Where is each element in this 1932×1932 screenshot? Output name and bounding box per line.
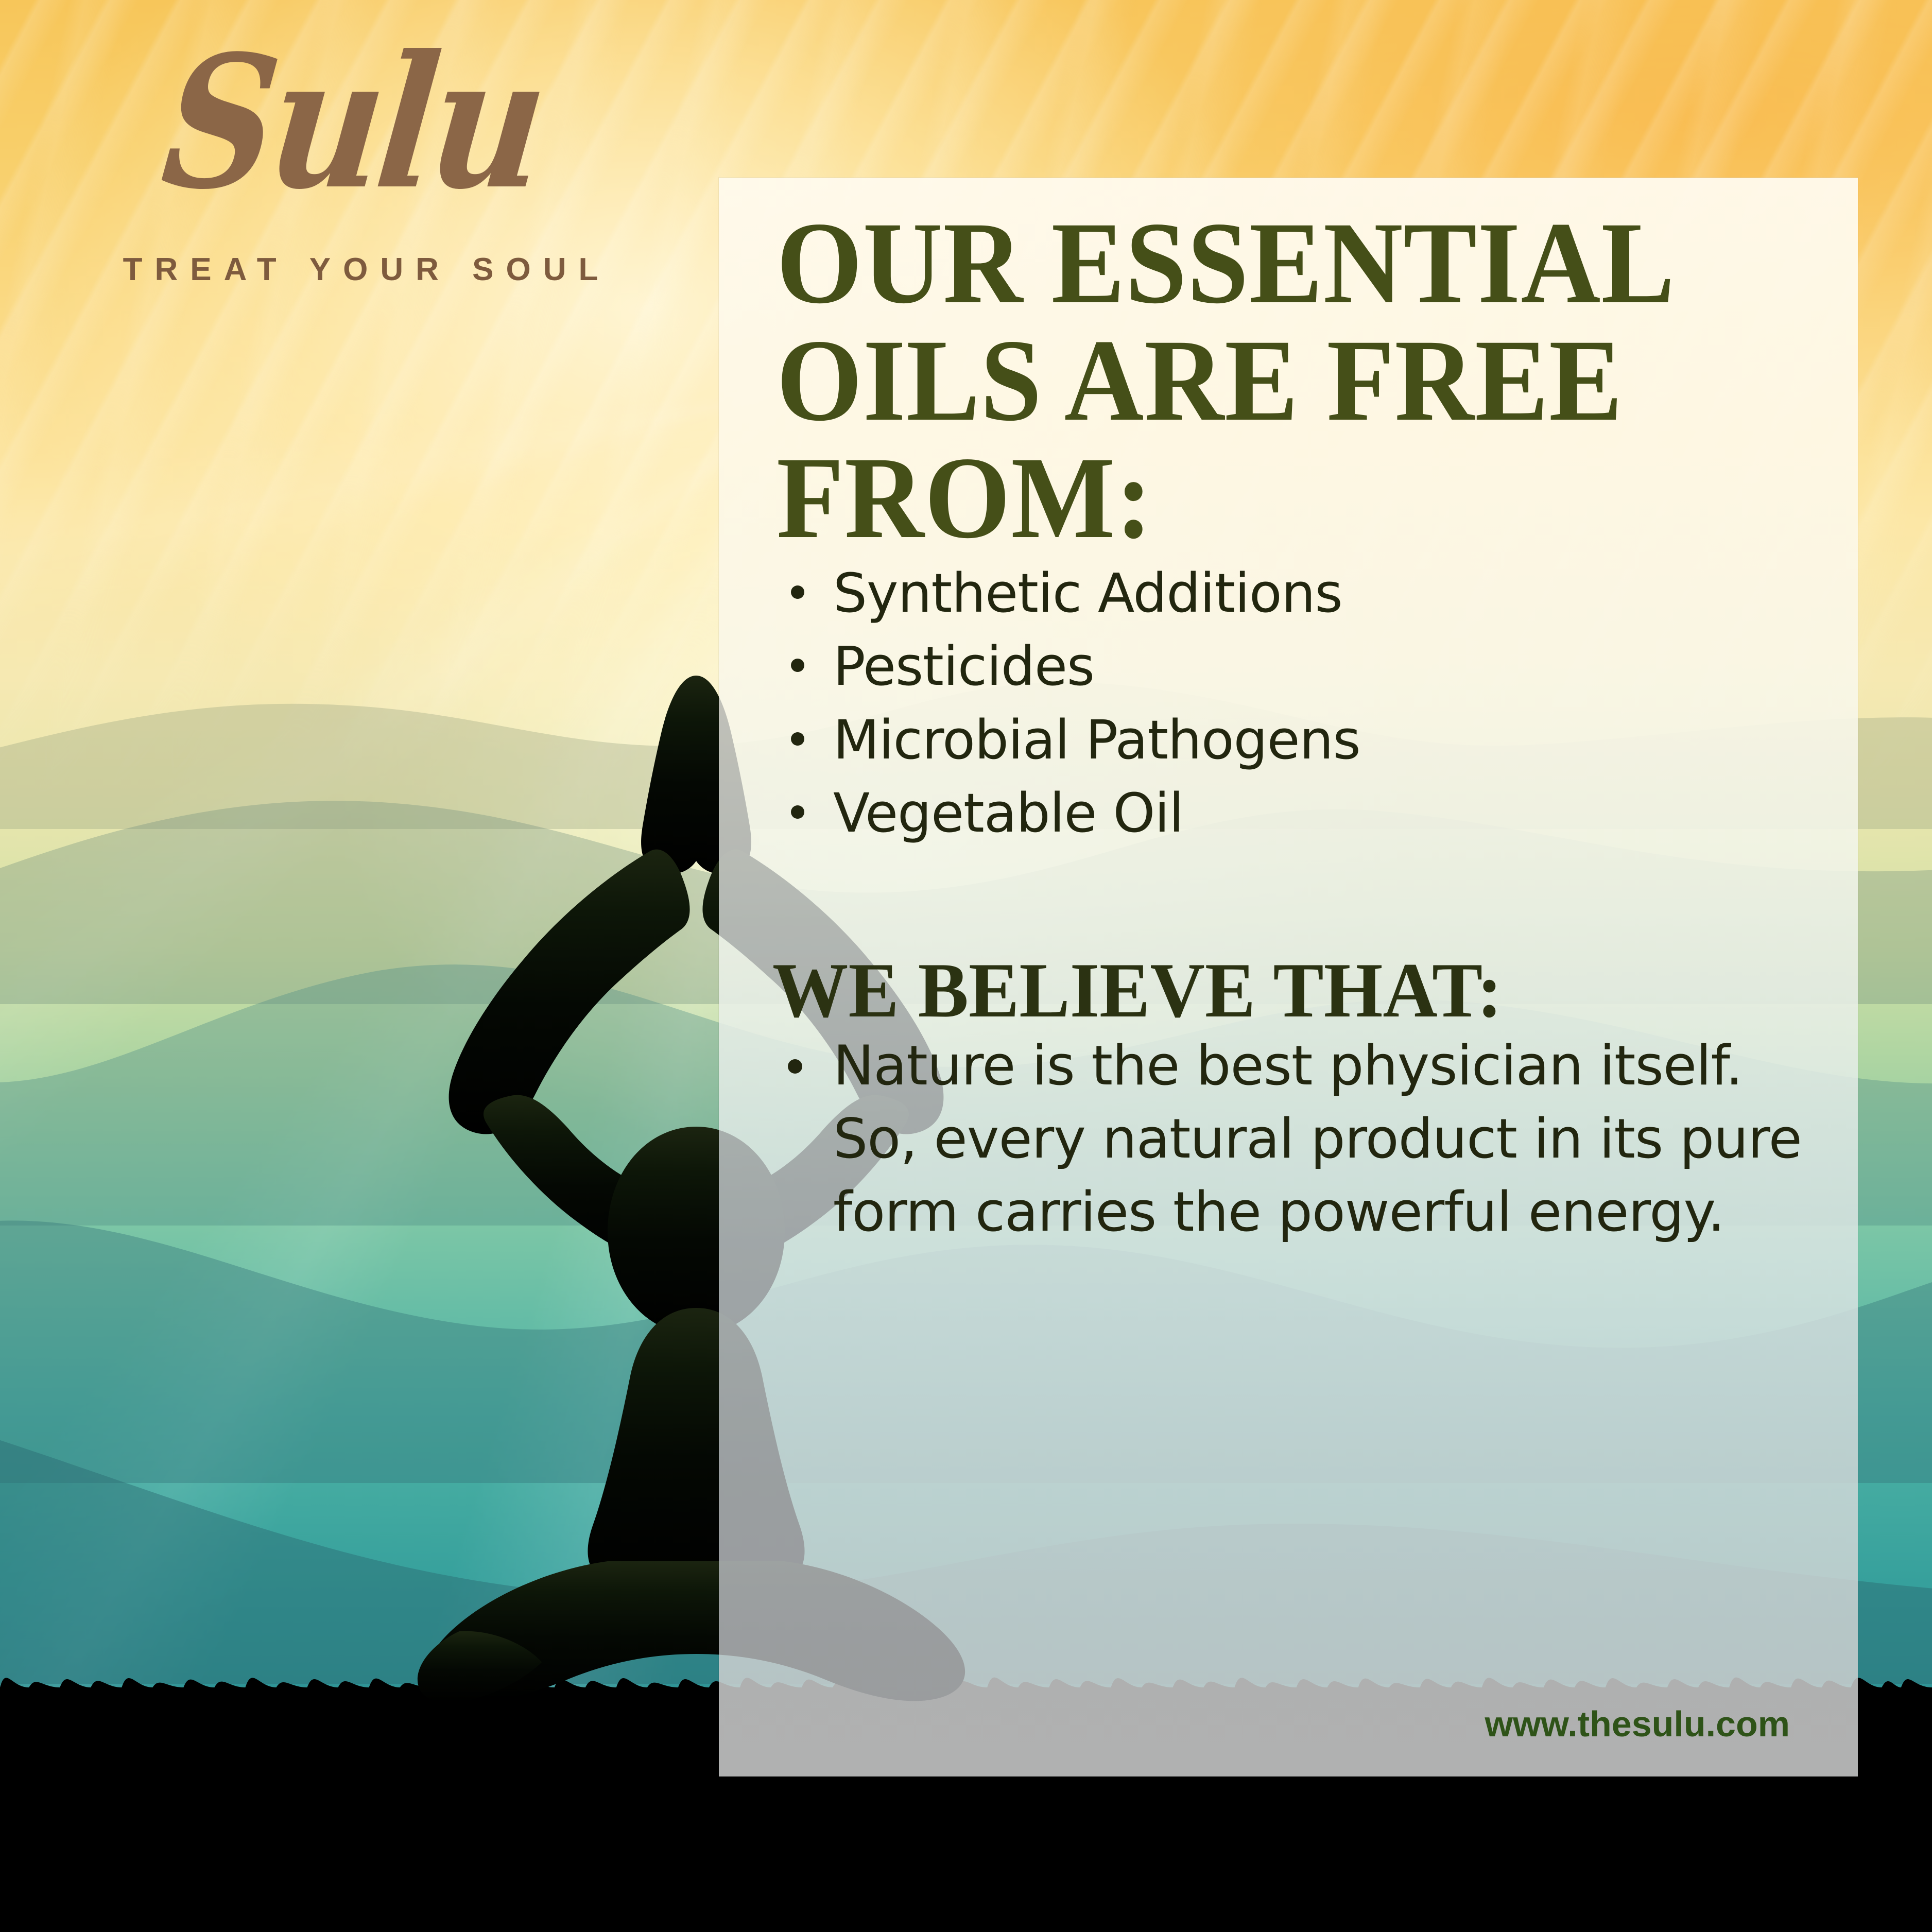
list-item: Microbial Pathogens (777, 703, 1822, 777)
list-item: Vegetable Oil (777, 777, 1822, 850)
brand-logo: Sulu TREAT YOUR SOUL (77, 49, 644, 288)
website-url[interactable]: www.thesulu.com (1485, 1703, 1790, 1745)
free-from-list: Synthetic Additions Pesticides Microbial… (777, 557, 1822, 850)
page-title: OUR ESSENTIAL OILS ARE FREE FROM: (777, 178, 1759, 557)
list-item: Nature is the best physician itself. So,… (777, 1029, 1822, 1249)
brand-name: Sulu (53, 36, 652, 209)
list-item: Pesticides (777, 630, 1822, 703)
section-subheading: WE BELIEVE THAT: (772, 850, 1790, 1029)
poster-canvas: OUR ESSENTIAL OILS ARE FREE FROM: Synthe… (0, 0, 1932, 1932)
brand-tagline: TREAT YOUR SOUL (77, 251, 644, 288)
content-panel: OUR ESSENTIAL OILS ARE FREE FROM: Synthe… (719, 178, 1858, 1776)
beliefs-list: Nature is the best physician itself. So,… (777, 1029, 1822, 1249)
list-item: Synthetic Additions (777, 557, 1822, 630)
